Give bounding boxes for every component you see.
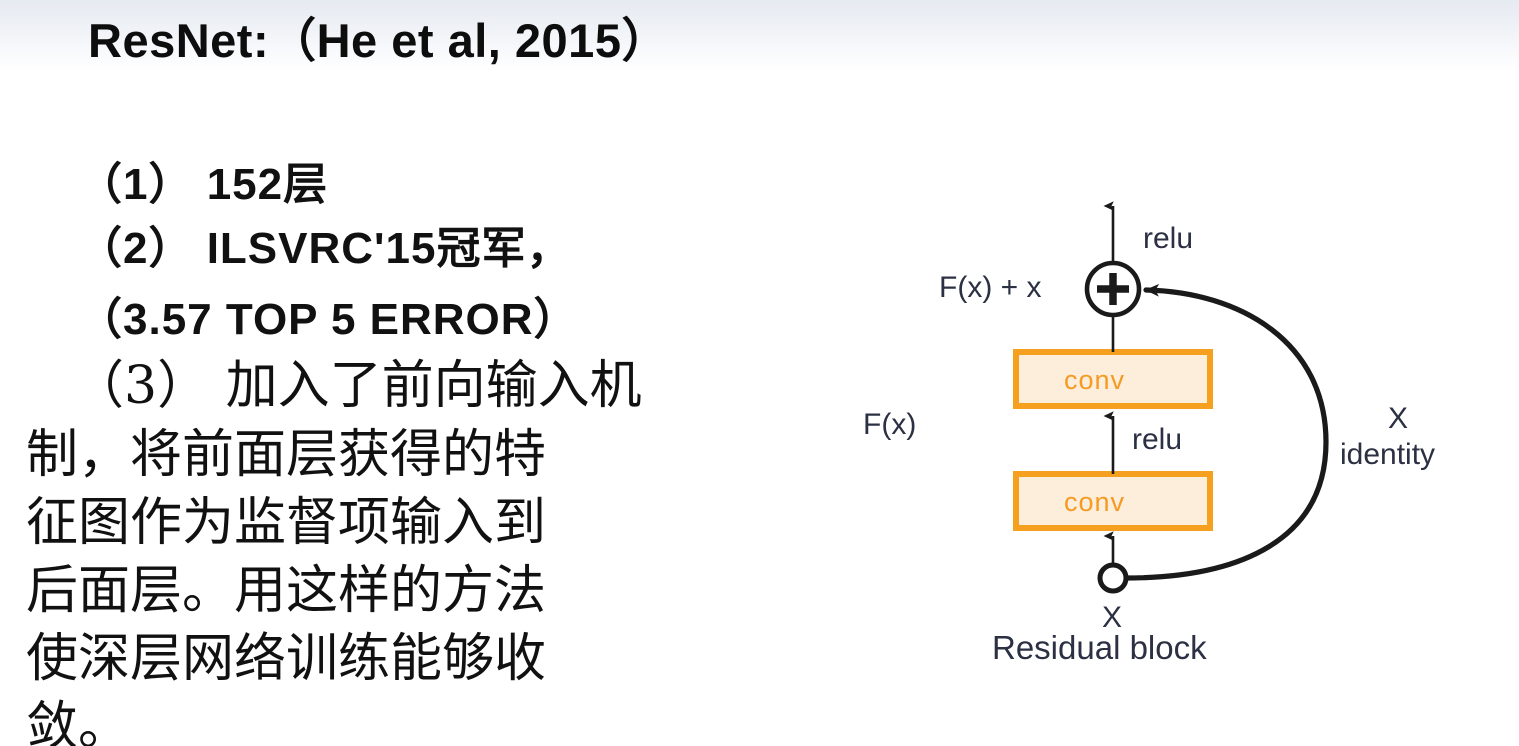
input-node-circle — [1100, 565, 1126, 591]
slide-canvas: ResNet:（He et al, 2015） （1） 152层 （2） ILS… — [0, 0, 1519, 746]
text-column: ResNet:（He et al, 2015） （1） 152层 （2） ILS… — [0, 0, 900, 746]
bullet-line-1: （1） 152层 — [78, 148, 328, 212]
conv-box-upper-label: conv — [1064, 365, 1125, 396]
paragraph-line-4: 后面层。用这样的方法 — [26, 548, 546, 623]
paragraph-line-1: （3） 加入了前向输入机 — [72, 343, 642, 418]
relu-middle-label: relu — [1132, 423, 1182, 457]
identity-x-label: X — [1388, 402, 1408, 436]
page-title: ResNet:（He et al, 2015） — [88, 2, 669, 71]
sum-expression-label: F(x) + x — [939, 271, 1042, 305]
identity-label: identity — [1340, 438, 1435, 472]
fx-label: F(x) — [863, 408, 916, 442]
residual-block-diagram: conv conv F(x) + x relu relu F(x) X iden… — [840, 180, 1519, 680]
bullet-line-3: （3.57 TOP 5 ERROR） — [78, 283, 579, 347]
paragraph-line-5: 使深层网络训练能够收 — [26, 616, 546, 691]
relu-top-label: relu — [1143, 222, 1193, 256]
bullet-line-2: （2） ILSVRC'15冠军， — [78, 212, 571, 276]
paragraph-line-6: 敛。 — [26, 684, 130, 746]
conv-box-lower-label: conv — [1064, 487, 1125, 518]
paragraph-line-2: 制，将前面层获得的特 — [26, 412, 546, 487]
paragraph-line-3: 征图作为监督项输入到 — [26, 480, 546, 555]
diagram-caption: Residual block — [992, 629, 1207, 667]
